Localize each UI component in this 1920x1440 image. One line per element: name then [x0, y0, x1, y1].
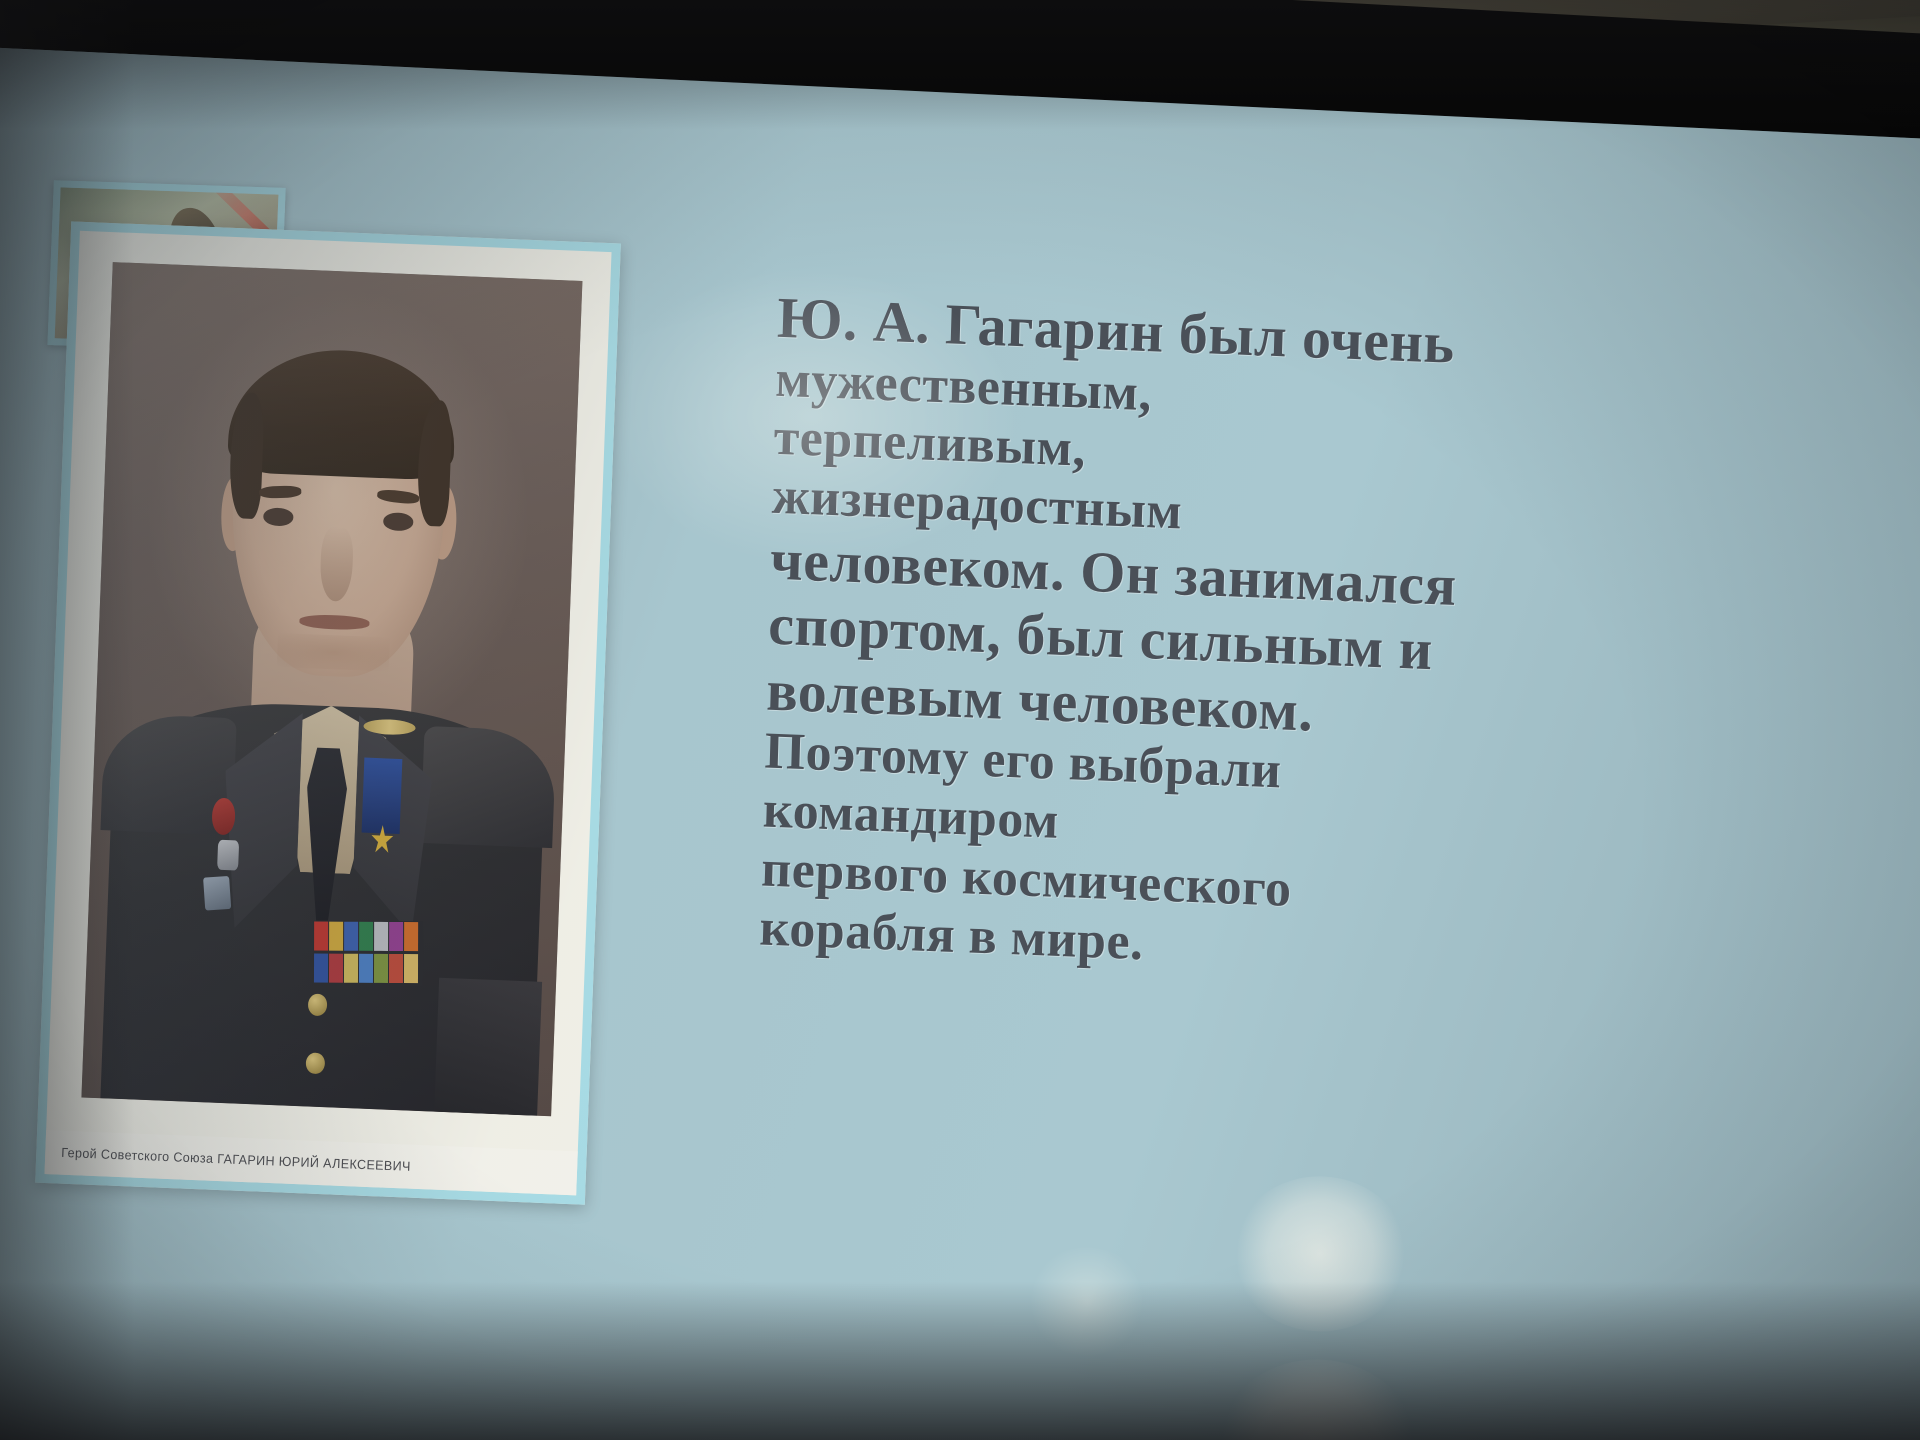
projector-glare-spot	[1229, 1172, 1412, 1335]
slide-body-text: Ю. А. Гагарин был оченьмужественным,терп…	[759, 285, 1678, 993]
portrait-caption-text: Герой Советского Союза ГАГАРИН ЮРИЙ АЛЕК…	[61, 1145, 411, 1174]
portrait-sleeve-cuff	[434, 978, 542, 1116]
medal-ribbon	[329, 922, 343, 951]
gagarin-portrait-photo	[81, 262, 582, 1116]
portrait-chin	[276, 633, 390, 671]
medal-ribbon	[374, 922, 388, 951]
portrait-caption: Герой Советского Союза ГАГАРИН ЮРИЙ АЛЕК…	[45, 1130, 578, 1195]
projector-glare-spot	[1213, 1355, 1422, 1440]
medal-ribbon	[374, 954, 388, 983]
medal-ribbon	[314, 921, 328, 950]
medal-ribbon	[389, 922, 403, 951]
medal-ribbon-bar	[313, 920, 423, 985]
medal-ribbon	[329, 953, 343, 982]
medal-ribbon	[344, 953, 358, 982]
medal-ribbon	[389, 954, 403, 983]
medal-ribbon	[404, 922, 418, 951]
portrait-eye-left	[263, 507, 294, 526]
uniform-badge-grey	[203, 876, 231, 911]
medal-ribbon	[344, 922, 358, 951]
projector-glare-spot	[1024, 1245, 1150, 1358]
hero-star-ribbon	[362, 757, 402, 834]
medal-ribbon	[404, 954, 418, 983]
portrait-frame: Герой Советского Союза ГАГАРИН ЮРИЙ АЛЕК…	[35, 221, 621, 1204]
medal-ribbon	[359, 922, 373, 951]
medal-ribbon	[359, 954, 373, 983]
medal-ribbon	[314, 953, 328, 982]
uniform-badge-silver	[217, 839, 239, 870]
portrait-eye-right	[383, 512, 414, 531]
room-scene: Герой Советского Союза ГАГАРИН ЮРИЙ АЛЕК…	[0, 0, 1920, 1440]
projected-slide: Герой Советского Союза ГАГАРИН ЮРИЙ АЛЕК…	[0, 46, 1920, 1440]
